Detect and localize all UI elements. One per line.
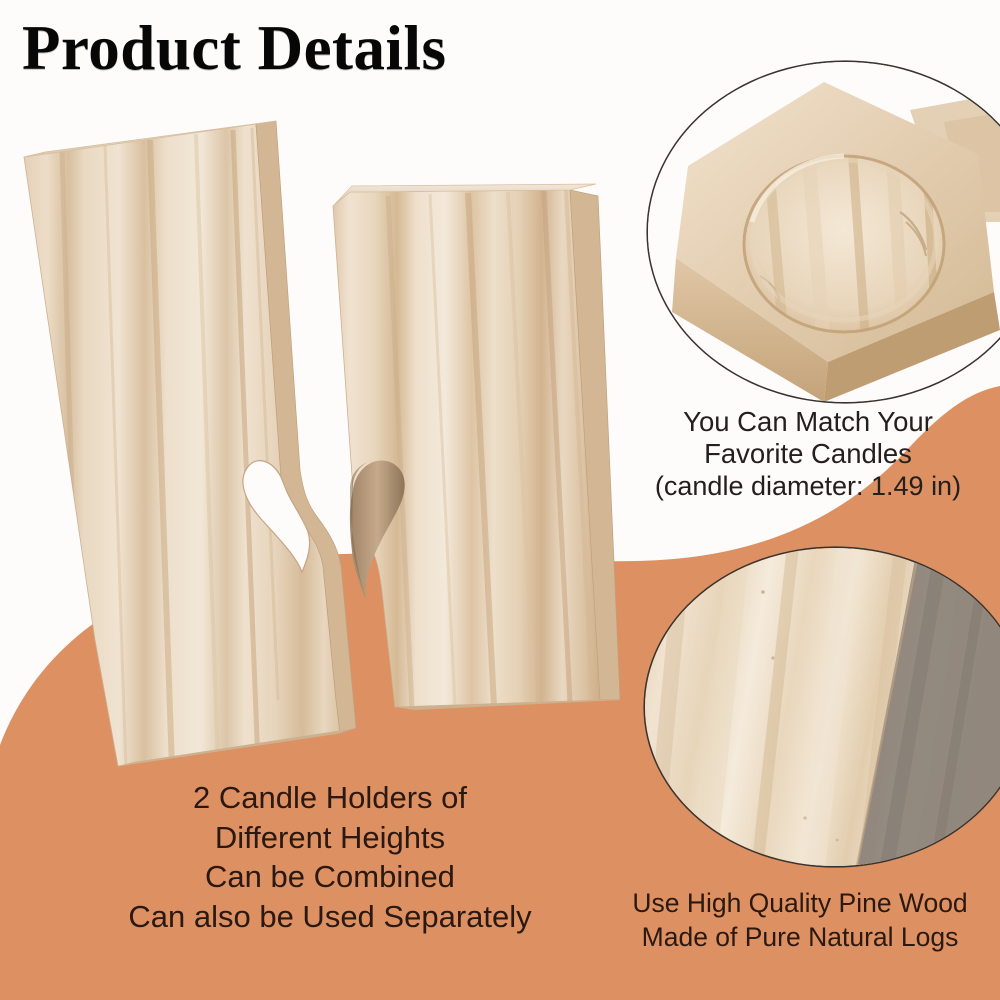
caption-match-candles: You Can Match Your Favorite Candles (can… xyxy=(628,406,988,503)
caption-holders-line-2: Different Heights xyxy=(60,820,600,857)
caption-pine-line-1: Use High Quality Pine Wood xyxy=(600,888,1000,919)
product-details-infographic: Product Details xyxy=(0,0,1000,1000)
caption-candles-line-2: Favorite Candles xyxy=(628,438,988,470)
caption-holders-line-1: 2 Candle Holders of xyxy=(60,780,600,817)
caption-candles-line-1: You Can Match Your xyxy=(628,406,988,438)
caption-pine-wood: Use High Quality Pine Wood Made of Pure … xyxy=(600,888,1000,957)
caption-holders-line-3: Can be Combined xyxy=(60,859,600,896)
right-candle-holder-block xyxy=(333,184,620,710)
caption-candles-line-3: (candle diameter: 1.49 in) xyxy=(628,471,988,503)
left-candle-holder-block xyxy=(24,121,356,772)
caption-candle-holders: 2 Candle Holders of Different Heights Ca… xyxy=(60,780,600,938)
caption-pine-line-2: Made of Pure Natural Logs xyxy=(600,922,1000,953)
caption-holders-line-4: Can also be Used Separately xyxy=(60,899,600,936)
